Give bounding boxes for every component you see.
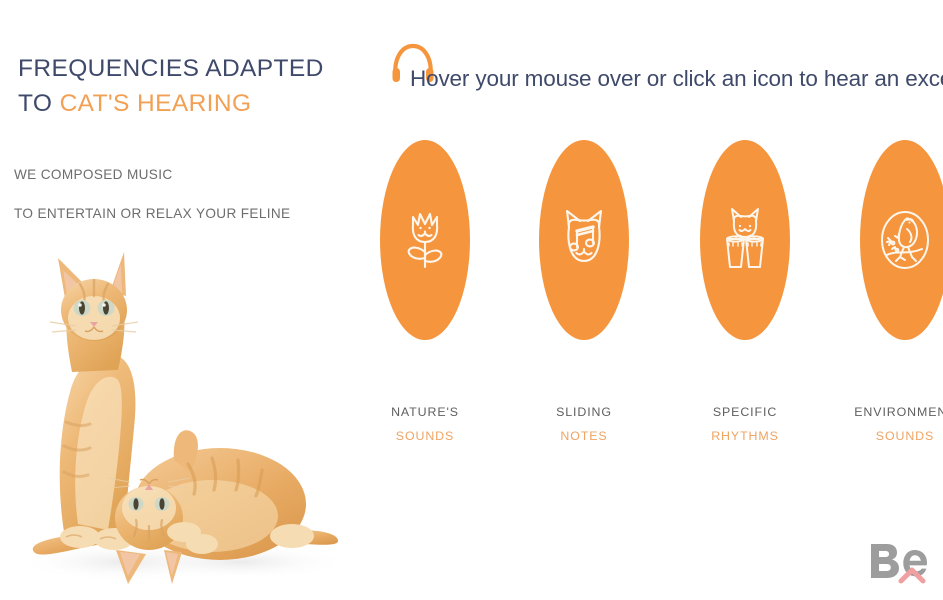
sound-category-grid: NATURE'S SOUNDS [352,140,943,440]
sound-category-sliding-notes[interactable]: SLIDING NOTES [518,140,650,448]
subcopy-line-1: WE COMPOSED MUSIC [14,156,344,195]
caption-line-2: NOTES [518,424,650,448]
bird-on-branch-circle-icon [874,205,936,275]
specific-rhythms-caption: SPECIFIC RHYTHMS [679,400,811,448]
subheadline: WE COMPOSED MUSIC TO ENTERTAIN OR RELAX … [14,156,344,233]
environment-sounds-caption: ENVIRONMENT SOUNDS [839,400,943,448]
caption-line-2: SOUNDS [359,424,491,448]
caption-line-1: NATURE'S [391,405,459,419]
sliding-notes-button[interactable] [539,140,629,340]
environment-sounds-button[interactable] [860,140,943,340]
caption-line-1: SPECIFIC [713,405,777,419]
natures-sounds-caption: NATURE'S SOUNDS [359,400,491,448]
left-column: FREQUENCIES ADAPTED TO CAT'S HEARING WE … [0,0,352,600]
sliding-notes-caption: SLIDING NOTES [518,400,650,448]
behance-logo [868,540,930,584]
cat-bongo-drums-icon [714,205,776,275]
sound-category-specific-rhythms[interactable]: SPECIFIC RHYTHMS [679,140,811,448]
cat-head-music-notes-icon [553,205,615,275]
natures-sounds-button[interactable] [380,140,470,340]
headline-line-1: FREQUENCIES ADAPTED [18,55,324,82]
caption-line-2: RHYTHMS [679,424,811,448]
tulip-cat-face-icon [394,205,456,275]
caption-line-1: ENVIRONMENT [854,405,943,419]
headline-prefix: TO [18,90,60,117]
kittens-photo [6,232,354,598]
hero-instruction-text: Hover your mouse over or click an icon t… [410,66,943,92]
hero-instruction: Hover your mouse over or click an icon t… [372,40,932,102]
page-root: FREQUENCIES ADAPTED TO CAT'S HEARING WE … [0,0,943,600]
page-title: FREQUENCIES ADAPTED TO CAT'S HEARING [18,52,338,122]
subcopy-line-2: TO ENTERTAIN OR RELAX YOUR FELINE [14,195,344,234]
caption-line-2: SOUNDS [839,424,943,448]
headline-accent: CAT'S HEARING [60,90,252,117]
right-panel: Hover your mouse over or click an icon t… [352,0,943,600]
headline-line-2: TO CAT'S HEARING [18,87,338,122]
caption-line-1: SLIDING [556,405,612,419]
sound-category-environment-sounds[interactable]: ENVIRONMENT SOUNDS [839,140,943,448]
sound-category-natures-sounds[interactable]: NATURE'S SOUNDS [359,140,491,448]
specific-rhythms-button[interactable] [700,140,790,340]
